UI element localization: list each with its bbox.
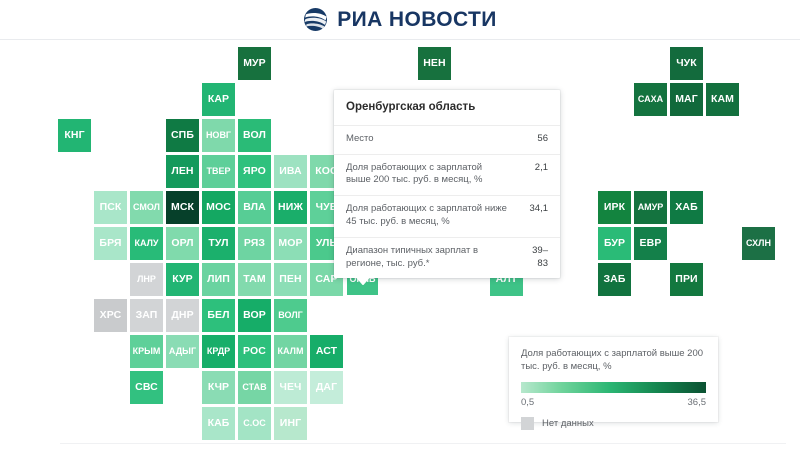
map-tile-label: ОРЛ [171,238,193,249]
map-tile-label: ДАГ [316,382,337,393]
map-tile-label: ЕВР [640,238,662,249]
footer-divider [60,443,786,444]
map-tile-ниж[interactable]: НИЖ [274,191,307,224]
map-tile-каб[interactable]: КАБ [202,407,235,440]
map-tile-label: СПБ [171,130,194,141]
map-tile-там[interactable]: ТАМ [238,263,271,296]
tooltip-metric-value: 2,1 [535,162,548,175]
map-tile-label: КРДР [207,347,230,356]
tooltip-metric-value: 34,1 [530,203,549,216]
legend-nodata-entry: Нет данных [521,417,706,430]
map-tile-label: КУР [172,274,193,285]
map-tile-новг[interactable]: НОВГ [202,119,235,152]
tooltip-metric-value: 56 [537,133,548,146]
map-tile-кнг[interactable]: КНГ [58,119,91,152]
map-tile-адыг[interactable]: АДЫГ [166,335,199,368]
legend-nodata-label: Нет данных [542,418,594,429]
legend-nodata-swatch [521,417,534,430]
map-tile-label: ИВА [279,166,302,177]
map-tile-калу[interactable]: КАЛУ [130,227,163,260]
legend-scale: 0,5 36,5 [521,397,706,408]
map-tile-твер[interactable]: ТВЕР [202,155,235,188]
map-tile-кчр[interactable]: КЧР [202,371,235,404]
map-tile-чеч[interactable]: ЧЕЧ [274,371,307,404]
map-tile-label: ПЕН [279,274,301,285]
map-tile-вор[interactable]: ВОР [238,299,271,332]
map-tile-label: ПРИ [675,274,697,285]
map-tile-вол[interactable]: ВОЛ [238,119,271,152]
map-tile-мос[interactable]: МОС [202,191,235,224]
map-tile-евр[interactable]: ЕВР [634,227,667,260]
tooltip-metric-row: Место56 [334,126,560,155]
map-tile-вла[interactable]: ВЛА [238,191,271,224]
map-tile-ирк[interactable]: ИРК [598,191,631,224]
map-tile-смол[interactable]: СМОЛ [130,191,163,224]
map-tile-label: ХАБ [675,202,697,213]
map-tile-рос[interactable]: РОС [238,335,271,368]
map-tile-калм[interactable]: КАЛМ [274,335,307,368]
map-tile-крым[interactable]: КРЫМ [130,335,163,368]
map-tile-label: СМОЛ [133,203,160,212]
map-tile-саха[interactable]: САХА [634,83,667,116]
map-tile-label: НИЖ [278,202,303,213]
map-tile-хрс[interactable]: ХРС [94,299,127,332]
map-tile-label: СХЛН [746,239,771,248]
map-tile-label: СВС [135,382,158,393]
map-tile-label: МОС [206,202,231,213]
map-tile-сос[interactable]: С.ОС [238,407,271,440]
legend-gradient-bar [521,382,706,393]
map-tile-бел[interactable]: БЕЛ [202,299,235,332]
map-tile-днр[interactable]: ДНР [166,299,199,332]
map-tile-label: МУР [243,58,266,69]
tooltip-metric-label: Диапазон типичных зарплат в регионе, тыс… [346,245,508,271]
map-tile-мор[interactable]: МОР [274,227,307,260]
map-tile-label: АДЫГ [169,347,196,356]
brand-block[interactable]: РИА НОВОСТИ [303,7,497,32]
legend-min-value: 0,5 [521,397,534,408]
map-tile-лен[interactable]: ЛЕН [166,155,199,188]
map-tile-label: МАГ [675,94,698,105]
map-tile-пск[interactable]: ПСК [94,191,127,224]
map-tile-label: БРЯ [99,238,121,249]
brand-title: РИА НОВОСТИ [337,9,497,30]
map-tile-label: ХРС [100,310,122,321]
map-tile-label: ТАМ [243,274,265,285]
map-tile-label: АМУР [638,203,664,212]
tooltip-metric-label: Доля работающих с зарплатой ниже 45 тыс.… [346,203,508,229]
map-tile-спб[interactable]: СПБ [166,119,199,152]
map-tile-бур[interactable]: БУР [598,227,631,260]
map-tile-label: ЛИП [207,274,230,285]
map-tile-label: КРЫМ [133,347,161,356]
map-tile-бря[interactable]: БРЯ [94,227,127,260]
map-tile-label: ВОЛ [243,130,266,141]
map-tile-label: КАМ [711,94,734,105]
map-tile-свс[interactable]: СВС [130,371,163,404]
map-tile-нен[interactable]: НЕН [418,47,451,80]
tooltip-metric-value: 39– 83 [532,245,548,271]
map-tile-label: ПСК [100,202,122,213]
map-tile-кам[interactable]: КАМ [706,83,739,116]
map-legend: Доля работающих с зарплатой выше 200 тыс… [509,337,718,422]
tooltip-metric-list: Место56Доля работающих с зарплатой выше … [334,126,560,279]
map-tile-аст[interactable]: АСТ [310,335,343,368]
map-tile-инг[interactable]: ИНГ [274,407,307,440]
map-tile-label: МСК [171,202,194,213]
map-tile-label: ЛЕН [171,166,193,177]
page-root: РИА НОВОСТИ МУРНЕНЧУККАРСАХАМАГКАМКНГСПБ… [0,0,800,450]
map-tile-label: КЧР [208,382,229,393]
map-tile-схлн[interactable]: СХЛН [742,227,775,260]
map-tile-пен[interactable]: ПЕН [274,263,307,296]
map-tile-крдр[interactable]: КРДР [202,335,235,368]
tooltip-region-name: Оренбургская область [334,90,560,126]
legend-title: Доля работающих с зарплатой выше 200 тыс… [521,348,706,374]
region-tooltip: Оренбургская область Место56Доля работаю… [334,90,560,278]
map-tile-label: ИНГ [280,418,301,429]
tooltip-metric-label: Доля работающих с зарплатой выше 200 тыс… [346,162,508,188]
map-tile-label: СТАВ [242,383,266,392]
map-tile-амур[interactable]: АМУР [634,191,667,224]
map-tile-label: НОВГ [206,131,231,140]
map-tile-чук[interactable]: ЧУК [670,47,703,80]
map-tile-маг[interactable]: МАГ [670,83,703,116]
map-tile-при[interactable]: ПРИ [670,263,703,296]
map-tile-label: ЗАБ [603,274,625,285]
map-tile-лип[interactable]: ЛИП [202,263,235,296]
map-tile-label: КАБ [208,418,230,429]
map-tile-label: ЧУК [676,58,697,69]
map-tile-label: САХА [638,95,663,104]
map-tile-label: БЕЛ [207,310,229,321]
map-tile-заб[interactable]: ЗАБ [598,263,631,296]
map-tile-label: ВОР [243,310,266,321]
map-tile-став[interactable]: СТАВ [238,371,271,404]
map-tile-ряз[interactable]: РЯЗ [238,227,271,260]
map-tile-label: ЯРО [243,166,266,177]
map-tile-label: АСТ [316,346,337,357]
tooltip-metric-label: Место [346,133,374,146]
tooltip-metric-row: Доля работающих с зарплатой выше 200 тыс… [334,155,560,197]
map-tile-label: МОР [278,238,302,249]
tooltip-metric-row: Диапазон типичных зарплат в регионе, тыс… [334,238,560,279]
site-header: РИА НОВОСТИ [0,0,800,39]
map-tile-label: КНГ [64,130,84,141]
map-tile-label: ВОЛГ [278,311,302,320]
map-tile-орл[interactable]: ОРЛ [166,227,199,260]
map-tile-label: БУР [604,238,625,249]
map-tile-label: ИРК [604,202,625,213]
map-tile-label: ЗАП [136,310,158,321]
map-tile-label: ВЛА [243,202,266,213]
map-tile-label: ДНР [171,310,193,321]
map-tile-зап[interactable]: ЗАП [130,299,163,332]
map-tile-label: КАР [208,94,229,105]
map-tile-label: С.ОС [243,419,266,428]
map-tile-label: КАЛУ [134,239,158,248]
map-tile-label: НЕН [423,58,445,69]
map-tile-волг[interactable]: ВОЛГ [274,299,307,332]
map-tile-хаб[interactable]: ХАБ [670,191,703,224]
map-tile-даг[interactable]: ДАГ [310,371,343,404]
map-tile-кар[interactable]: КАР [202,83,235,116]
map-tile-label: РОС [243,346,266,357]
map-tile-label: КАЛМ [278,347,304,356]
map-tile-label: ТУЛ [208,238,228,249]
tooltip-metric-row: Доля работающих с зарплатой ниже 45 тыс.… [334,196,560,238]
map-tile-label: ТВЕР [206,167,230,176]
map-tile-label: ЧЕЧ [279,382,301,393]
map-tile-мур[interactable]: МУР [238,47,271,80]
map-tile-тул[interactable]: ТУЛ [202,227,235,260]
map-tile-мск[interactable]: МСК [166,191,199,224]
map-tile-яро[interactable]: ЯРО [238,155,271,188]
map-tile-label: ЛНР [137,275,156,284]
legend-max-value: 36,5 [688,397,707,408]
ria-globe-icon [303,7,328,32]
map-tile-лнр[interactable]: ЛНР [130,263,163,296]
map-tile-кур[interactable]: КУР [166,263,199,296]
map-tile-label: РЯЗ [244,238,265,249]
map-tile-ива[interactable]: ИВА [274,155,307,188]
